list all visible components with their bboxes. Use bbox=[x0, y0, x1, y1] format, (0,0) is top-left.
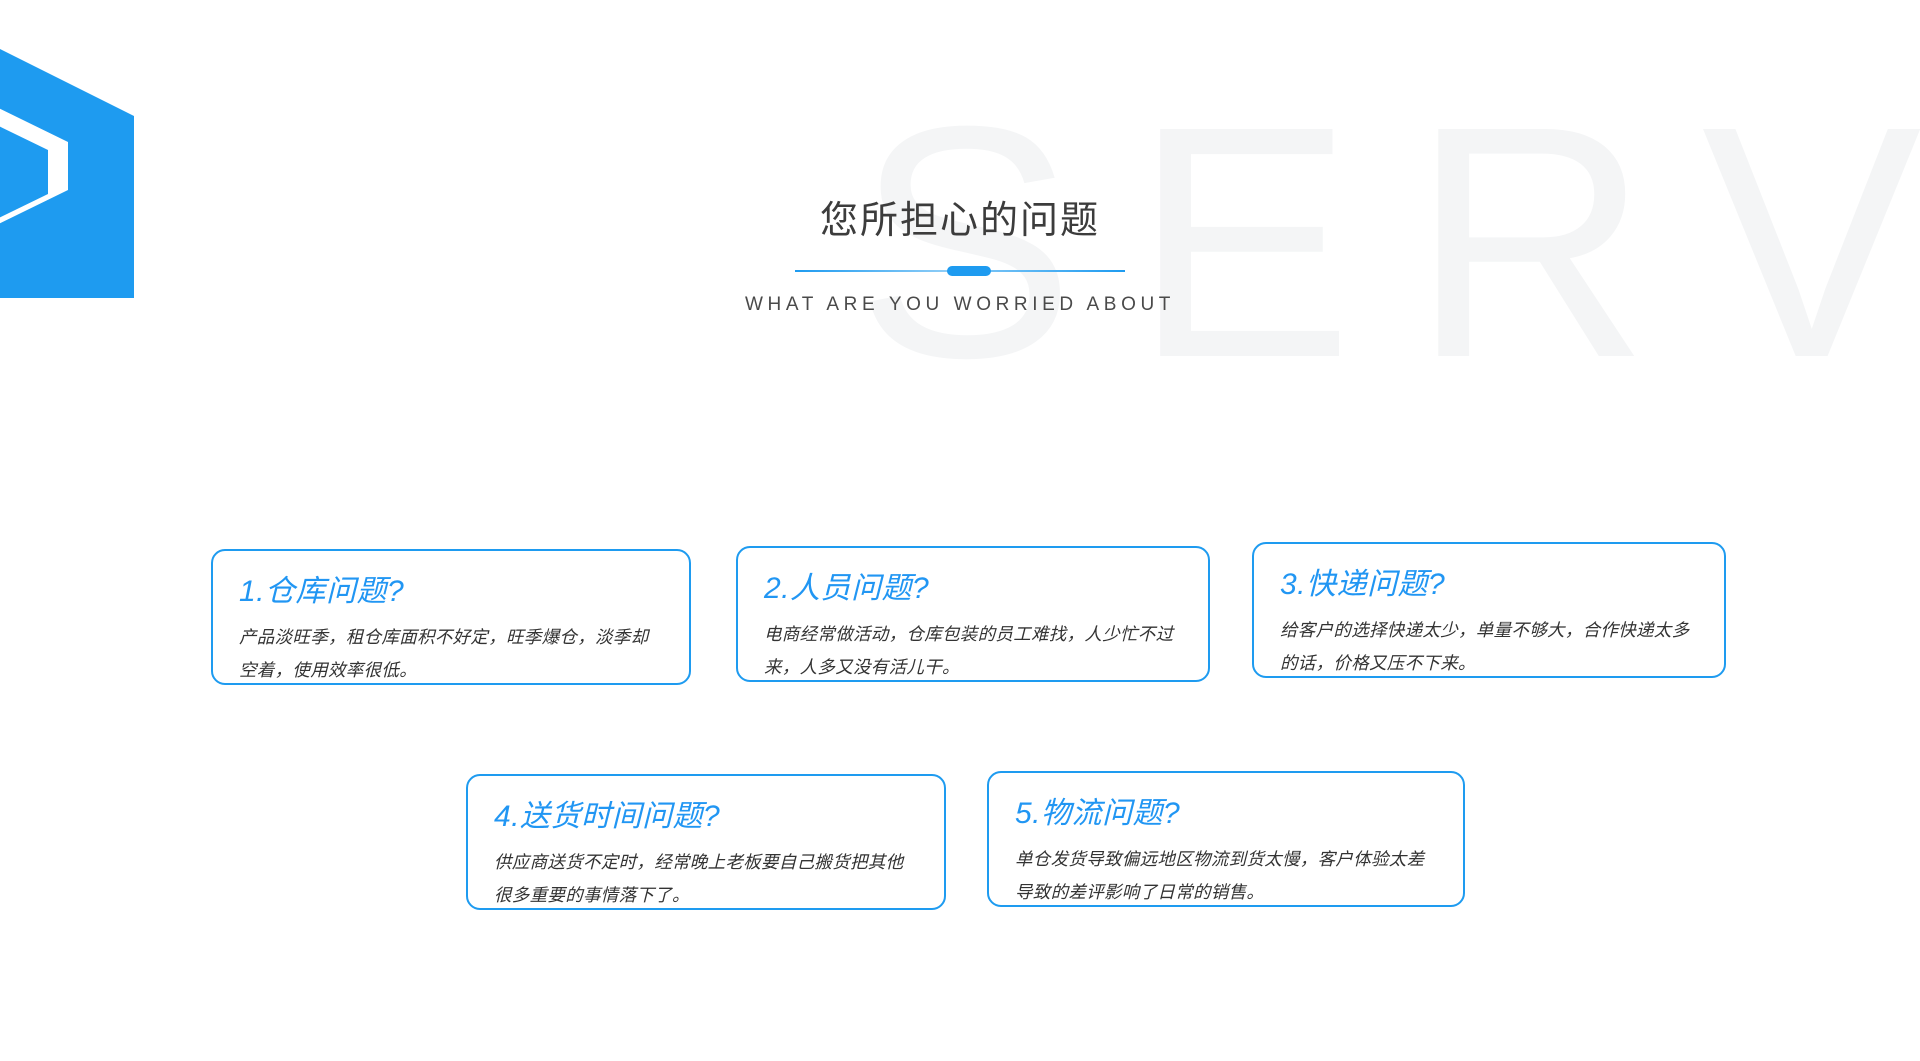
card-body: 单仓发货导致偏远地区物流到货太慢，客户体验太差导致的差评影响了日常的销售。 bbox=[1015, 843, 1437, 909]
card-body: 电商经常做活动，仓库包装的员工难找，人少忙不过来，人多又没有活儿干。 bbox=[764, 618, 1182, 684]
card-title: 2.人员问题? bbox=[764, 570, 1182, 608]
problem-card-2[interactable]: 2.人员问题? 电商经常做活动，仓库包装的员工难找，人少忙不过来，人多又没有活儿… bbox=[736, 546, 1210, 682]
card-title: 5.物流问题? bbox=[1015, 795, 1437, 833]
page-subtitle: WHAT ARE YOU WORRIED ABOUT bbox=[0, 294, 1920, 316]
problem-card-3[interactable]: 3.快递问题? 给客户的选择快递太少，单量不够大，合作快递太多的话，价格又压不下… bbox=[1252, 542, 1726, 678]
divider-dot bbox=[947, 266, 991, 276]
page-title: 您所担心的问题 bbox=[0, 196, 1920, 246]
problem-card-1[interactable]: 1.仓库问题? 产品淡旺季，租仓库面积不好定，旺季爆仓，淡季却空着，使用效率很低… bbox=[211, 549, 691, 685]
problem-card-5[interactable]: 5.物流问题? 单仓发货导致偏远地区物流到货太慢，客户体验太差导致的差评影响了日… bbox=[987, 771, 1465, 907]
card-body: 产品淡旺季，租仓库面积不好定，旺季爆仓，淡季却空着，使用效率很低。 bbox=[239, 621, 663, 687]
title-divider bbox=[795, 264, 1125, 278]
header-block: 您所担心的问题 WHAT ARE YOU WORRIED ABOUT bbox=[0, 196, 1920, 316]
card-title: 4.送货时间问题? bbox=[494, 798, 918, 836]
problem-card-4[interactable]: 4.送货时间问题? 供应商送货不定时，经常晚上老板要自己搬货把其他很多重要的事情… bbox=[466, 774, 946, 910]
card-title: 1.仓库问题? bbox=[239, 573, 663, 611]
card-title: 3.快递问题? bbox=[1280, 566, 1698, 604]
card-body: 给客户的选择快递太少，单量不够大，合作快递太多的话，价格又压不下来。 bbox=[1280, 614, 1698, 680]
card-body: 供应商送货不定时，经常晚上老板要自己搬货把其他很多重要的事情落下了。 bbox=[494, 846, 918, 912]
